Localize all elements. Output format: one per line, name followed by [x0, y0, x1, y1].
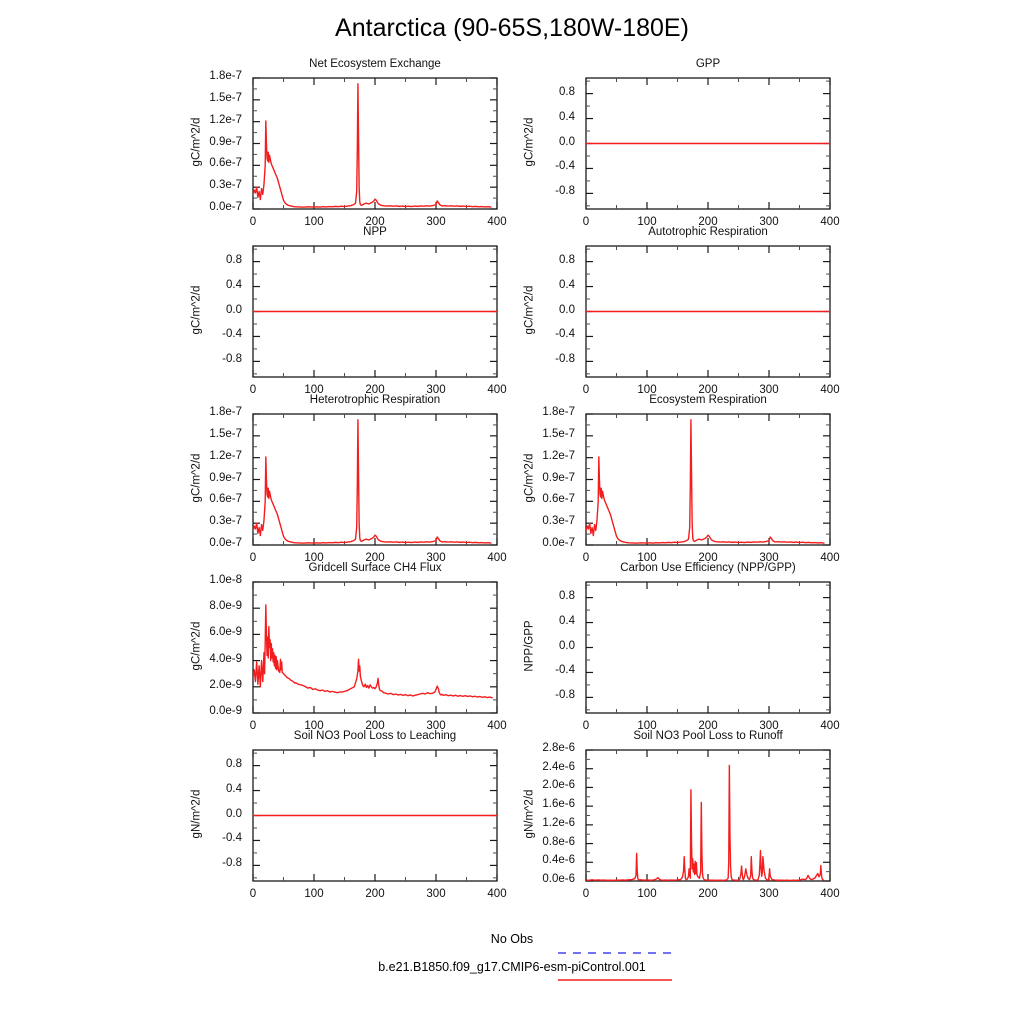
data-series-line — [253, 605, 492, 698]
plot-axes — [183, 56, 517, 237]
plot-axes — [183, 560, 517, 741]
plot-axes — [183, 392, 517, 573]
figure-title: Antarctica (90-65S,180W-180E) — [0, 14, 1024, 43]
plot-axes — [516, 56, 850, 237]
plot-panel: Soil NO3 Pool Loss to RunoffgN/m^2/d0100… — [516, 728, 850, 909]
plot-panel: Autotrophic RespirationgC/m^2/d010020030… — [516, 224, 850, 405]
plot-panel: NPPgC/m^2/d0100200300400-0.8-0.40.00.40.… — [183, 224, 517, 405]
plot-axes — [183, 224, 517, 405]
plot-axes — [516, 728, 850, 909]
plot-axes — [516, 560, 850, 741]
plot-panel: Gridcell Surface CH4 FluxgC/m^2/d0100200… — [183, 560, 517, 741]
plot-panel: Soil NO3 Pool Loss to LeachinggN/m^2/d01… — [183, 728, 517, 909]
plot-panel: GPPgC/m^2/d0100200300400-0.8-0.40.00.40.… — [516, 56, 850, 237]
plot-panel: Net Ecosystem ExchangegC/m^2/d0100200300… — [183, 56, 517, 237]
legend-obs-label: No Obs — [0, 932, 1024, 946]
figure-root: Antarctica (90-65S,180W-180E) Net Ecosys… — [0, 0, 1024, 1024]
data-series-line — [253, 420, 491, 543]
plot-panel: Heterotrophic RespirationgC/m^2/d0100200… — [183, 392, 517, 573]
legend-obs-line — [0, 948, 1024, 958]
data-series-line — [586, 420, 824, 543]
plot-panel: Carbon Use Efficiency (NPP/GPP)NPP/GPP01… — [516, 560, 850, 741]
legend-model-label: b.e21.B1850.f09_g17.CMIP6-esm-piControl.… — [0, 960, 1024, 974]
plot-axes — [183, 728, 517, 909]
plot-axes — [516, 224, 850, 405]
data-series-line — [253, 84, 491, 207]
data-series-line — [586, 765, 823, 880]
plot-panel: Ecosystem RespirationgC/m^2/d01002003004… — [516, 392, 850, 573]
legend-model-line — [0, 976, 1024, 986]
plot-axes — [516, 392, 850, 573]
